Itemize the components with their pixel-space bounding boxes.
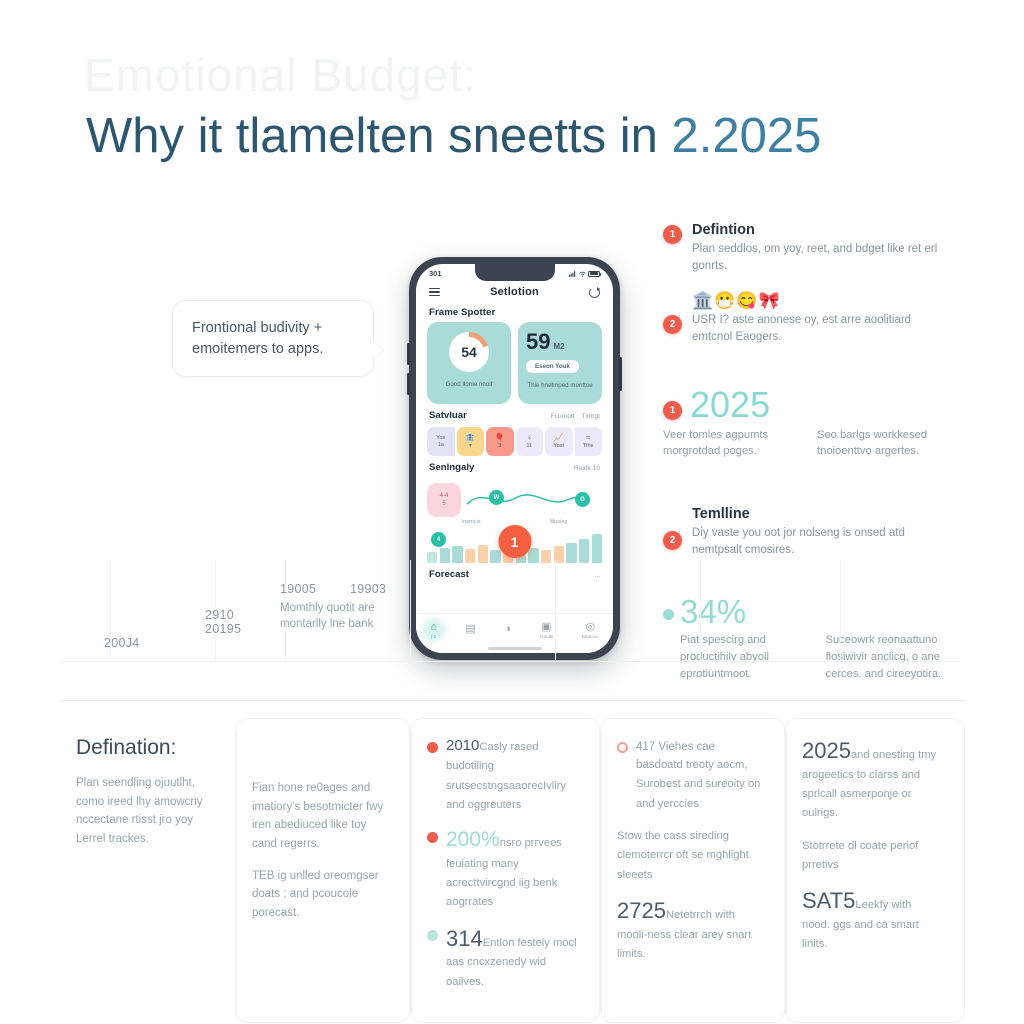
section-divider xyxy=(60,700,966,701)
section-satvluar: Satvluar Fcumott Timrgt xyxy=(416,404,613,425)
bullet-dot-icon xyxy=(427,742,438,753)
meta-item-2[interactable]: Timrgt xyxy=(582,413,600,420)
bottom-columns: Defination: Plan seendling ojuutlht, com… xyxy=(60,718,966,1023)
tile-5-bottom: Yoxt xyxy=(553,443,564,449)
bottom-list-item: Stotrrete dl coate periof prretivs xyxy=(802,836,942,875)
right-item-title: Temlline xyxy=(692,506,953,522)
donut-value: 54 xyxy=(461,344,477,360)
section-senlngaly-label: Senlngaly xyxy=(429,462,474,473)
bar-label-2: Muoieg xyxy=(550,519,568,525)
bottom-item-head: 2025 xyxy=(802,738,851,763)
status-icons xyxy=(569,271,600,277)
bottom-list-item: Stow the cass sireding clemoterrcr oft s… xyxy=(617,826,762,884)
bottom-list-item: 2025and onesting tmy arogeetics to clars… xyxy=(802,737,942,823)
stat-card-value: 59M2 xyxy=(526,331,594,353)
right-item-body: Plan seddlos, om yoy, reet, and bdget li… xyxy=(692,241,953,276)
badge-number: 1 xyxy=(663,225,682,244)
badge-number: 2 xyxy=(663,531,682,550)
bottom-item-head: 200% xyxy=(446,828,500,851)
bottom-item-sub: Stotrrete dl coate periof prretivs xyxy=(802,840,918,871)
bottom-col-4: 417 Viehes cae basdoatd treoty aocm, Sur… xyxy=(600,718,785,1023)
line-chart: 4-4 5 W G xyxy=(427,479,602,521)
bottom-list-item: 2010Casly rased budotiling srutsecstngsa… xyxy=(427,737,577,814)
award-icon xyxy=(617,742,628,753)
line-node-2[interactable]: G xyxy=(575,492,590,507)
callout-bubble: Frontional budivity + emoitemers to apps… xyxy=(172,300,374,377)
status-time: 301 xyxy=(429,269,442,278)
tile-1[interactable]: Yos1a xyxy=(427,427,455,456)
phone-notch xyxy=(475,264,555,281)
tile-3-bottom: 3 xyxy=(498,443,501,449)
timeline-year: 19903 xyxy=(350,582,386,596)
bar xyxy=(592,534,602,563)
timeline-item: 2910 20195 xyxy=(205,608,241,636)
wifi-icon xyxy=(579,271,586,277)
right-item-2025: 1 2025 Veer tomles agpumts morgrotdad po… xyxy=(663,387,953,460)
infographic-canvas: Emotional Budget: Why it tlamelten sneet… xyxy=(0,0,1024,1024)
line-node-1[interactable]: W xyxy=(489,490,504,505)
wave-icon: ≈ xyxy=(586,434,590,442)
bottom-text: Fian hone re0ages and imatiory's besotmi… xyxy=(252,779,387,854)
stat-card-donut[interactable]: 54 Good llome nnoif xyxy=(427,322,511,404)
bottom-item-head: 314 xyxy=(446,926,483,951)
right-2025-col-right: Seo barlgs workkesed tnoioenttvo argerte… xyxy=(817,427,953,460)
bottom-list-item: 417 Viehes cae basdoatd treoty aocm, Sur… xyxy=(617,737,762,813)
bottom-item-head: 2010 xyxy=(446,737,479,754)
bottom-col-2: Fian hone re0ages and imatiory's besotmi… xyxy=(235,718,410,1023)
tile-2-bottom: ▾ xyxy=(469,443,472,449)
page-title-main: Why it tlamelten sneetts in xyxy=(86,109,672,163)
section-satvluar-label: Satvluar xyxy=(429,410,467,421)
right-2025-col-left: Veer tomles agpumts morgrotdad poges. xyxy=(663,427,799,460)
category-tiles: Yos1a 🏦▾ 🎈3 ♀11 📈Yoxt ≈Tihe xyxy=(416,427,613,456)
tile-3[interactable]: 🎈3 xyxy=(486,427,514,456)
timeline-gridlines xyxy=(60,560,960,690)
right-item-body: Diy vaste you oot jor nolseng is onsed a… xyxy=(692,525,953,560)
bar-chart: Inemuis Muoieg 4 1 xyxy=(427,523,602,563)
stat-value-number: 59 xyxy=(526,329,550,354)
highlight-circle[interactable]: 1 xyxy=(498,525,531,558)
signal-icon xyxy=(569,271,576,277)
tile-2[interactable]: 🏦▾ xyxy=(457,427,485,456)
timeline-desc: Momthly quotit are montarlly lne bank xyxy=(280,600,420,632)
bottom-item-head: 2725 xyxy=(617,898,666,923)
tile-4[interactable]: ♀11 xyxy=(516,427,544,456)
section-satvluar-meta: Fcumott Timrgt xyxy=(551,413,600,420)
section-frame-spotter-title: Frame Spotter xyxy=(416,301,613,322)
timeline-year-2: 20195 xyxy=(205,622,241,636)
app-bar: Setlotion xyxy=(416,279,613,301)
tile-4-bottom: 11 xyxy=(526,443,532,449)
bottom-col-3: 2010Casly rased budotiling srutsecstngsa… xyxy=(410,718,600,1023)
bullet-dot-icon xyxy=(427,832,438,843)
tile-6-bottom: Tihe xyxy=(583,443,594,449)
right-item-body: USR I? aste anonese oy, est arre aooliti… xyxy=(692,312,953,347)
hamburger-icon[interactable] xyxy=(429,288,440,297)
volume-up-button[interactable] xyxy=(407,343,410,365)
ghost-title: Emotional Budget: xyxy=(84,48,477,102)
bottom-item-head: SAT5 xyxy=(802,888,855,913)
bottom-list-item: SAT5Leekfy with nood. ggs and ca smart l… xyxy=(802,887,942,953)
battery-icon xyxy=(588,271,600,277)
bar-node[interactable]: 4 xyxy=(431,532,446,547)
bottom-col-5: 2025and onesting tmy arogeetics to clars… xyxy=(785,718,965,1023)
chart-icon: 📈 xyxy=(554,434,564,442)
right-item-title: Defintion xyxy=(692,222,953,238)
app-title: Setlotion xyxy=(490,286,539,298)
bullet-dot-icon xyxy=(427,930,438,941)
tile-1-top: Yos xyxy=(436,435,445,441)
stat-card-caption: Good llome nnoif xyxy=(435,381,503,390)
page-title-accent: 2.2025 xyxy=(672,109,822,163)
meta-item-1[interactable]: Fcumott xyxy=(551,413,575,420)
section-senlngaly-meta: Reldk 10 xyxy=(574,465,600,472)
section-senlngaly: Senlngaly Reldk 10 xyxy=(416,456,613,477)
timeline-year: 200J4 xyxy=(104,636,140,650)
bottom-list-item: 200%nsro prrvees feuiating many acrecttv… xyxy=(427,827,577,911)
emoji-row: 🏛️😷😋🎀 xyxy=(692,292,953,311)
tile-6[interactable]: ≈Tihe xyxy=(575,427,603,456)
stat-value-unit: M2 xyxy=(553,342,564,351)
stat-card-caption-2: Thie hnetmped monttoe xyxy=(526,382,594,391)
badge-number: 2 xyxy=(663,315,682,334)
bottom-section: Defination: Plan seendling ojuutlht, com… xyxy=(60,700,966,955)
volume-down-button[interactable] xyxy=(407,373,410,395)
bottom-list-item: 2725Netetrrch with mooli-ness clear arey… xyxy=(617,897,762,963)
stat-card-number[interactable]: 59M2 Eseon Youk Thie hnetmped monttoe xyxy=(518,322,602,404)
tile-1-bottom: 1a xyxy=(438,442,444,448)
right-item-usr: 2 USR I? aste anonese oy, est arre aooli… xyxy=(663,312,953,347)
page-title: Why it tlamelten sneetts in 2.2025 xyxy=(86,108,821,164)
bottom-title: Defination: xyxy=(76,736,213,760)
bottom-text-2: TEB ig unlled oreomgser doats ; and pcou… xyxy=(252,867,387,923)
right-item-timeline: Temlline 2 Diy vaste you oot jor nolseng… xyxy=(663,506,953,560)
bank-icon: 🏦 xyxy=(465,434,475,442)
timeline-axis xyxy=(60,661,960,662)
refresh-icon[interactable] xyxy=(589,287,600,298)
callout-bubble-text: Frontional budivity + emoitemers to apps… xyxy=(192,320,323,357)
bottom-text: Plan seendling ojuutlht, como ireed lhy … xyxy=(76,774,213,849)
timeline-item: 200J4 xyxy=(104,636,140,650)
bottom-col-definition: Defination: Plan seendling ojuutlht, com… xyxy=(60,718,235,1023)
timeline-item: 19903 xyxy=(350,582,386,596)
balloon-icon: 🎈 xyxy=(495,434,505,442)
right-2025-columns: Veer tomles agpumts morgrotdad poges. Se… xyxy=(663,427,953,460)
bottom-list-item: 314Entlon festely mocl aas cncxzenedy wi… xyxy=(427,925,577,991)
stat-2025: 2025 xyxy=(690,387,953,423)
timeline: 200J4 2910 20195 19005 Momthly quotit ar… xyxy=(60,560,960,690)
donut-chart: 54 xyxy=(449,332,489,372)
stat-card-pill[interactable]: Eseon Youk xyxy=(526,360,579,373)
power-button[interactable] xyxy=(619,357,622,391)
tile-5[interactable]: 📈Yoxt xyxy=(545,427,573,456)
pin-icon: ♀ xyxy=(526,434,532,442)
right-item-definition: 1 Defintion Plan seddlos, om yoy, reet, … xyxy=(663,222,953,276)
badge-number: 1 xyxy=(663,401,682,420)
bar-label-1: Inemuis xyxy=(462,519,481,525)
stat-cards: 54 Good llome nnoif 59M2 Eseon Youk Thie… xyxy=(416,322,613,404)
bottom-item-sub: Stow the cass sireding clemoterrcr oft s… xyxy=(617,830,749,881)
timeline-year: 2910 xyxy=(205,608,241,622)
